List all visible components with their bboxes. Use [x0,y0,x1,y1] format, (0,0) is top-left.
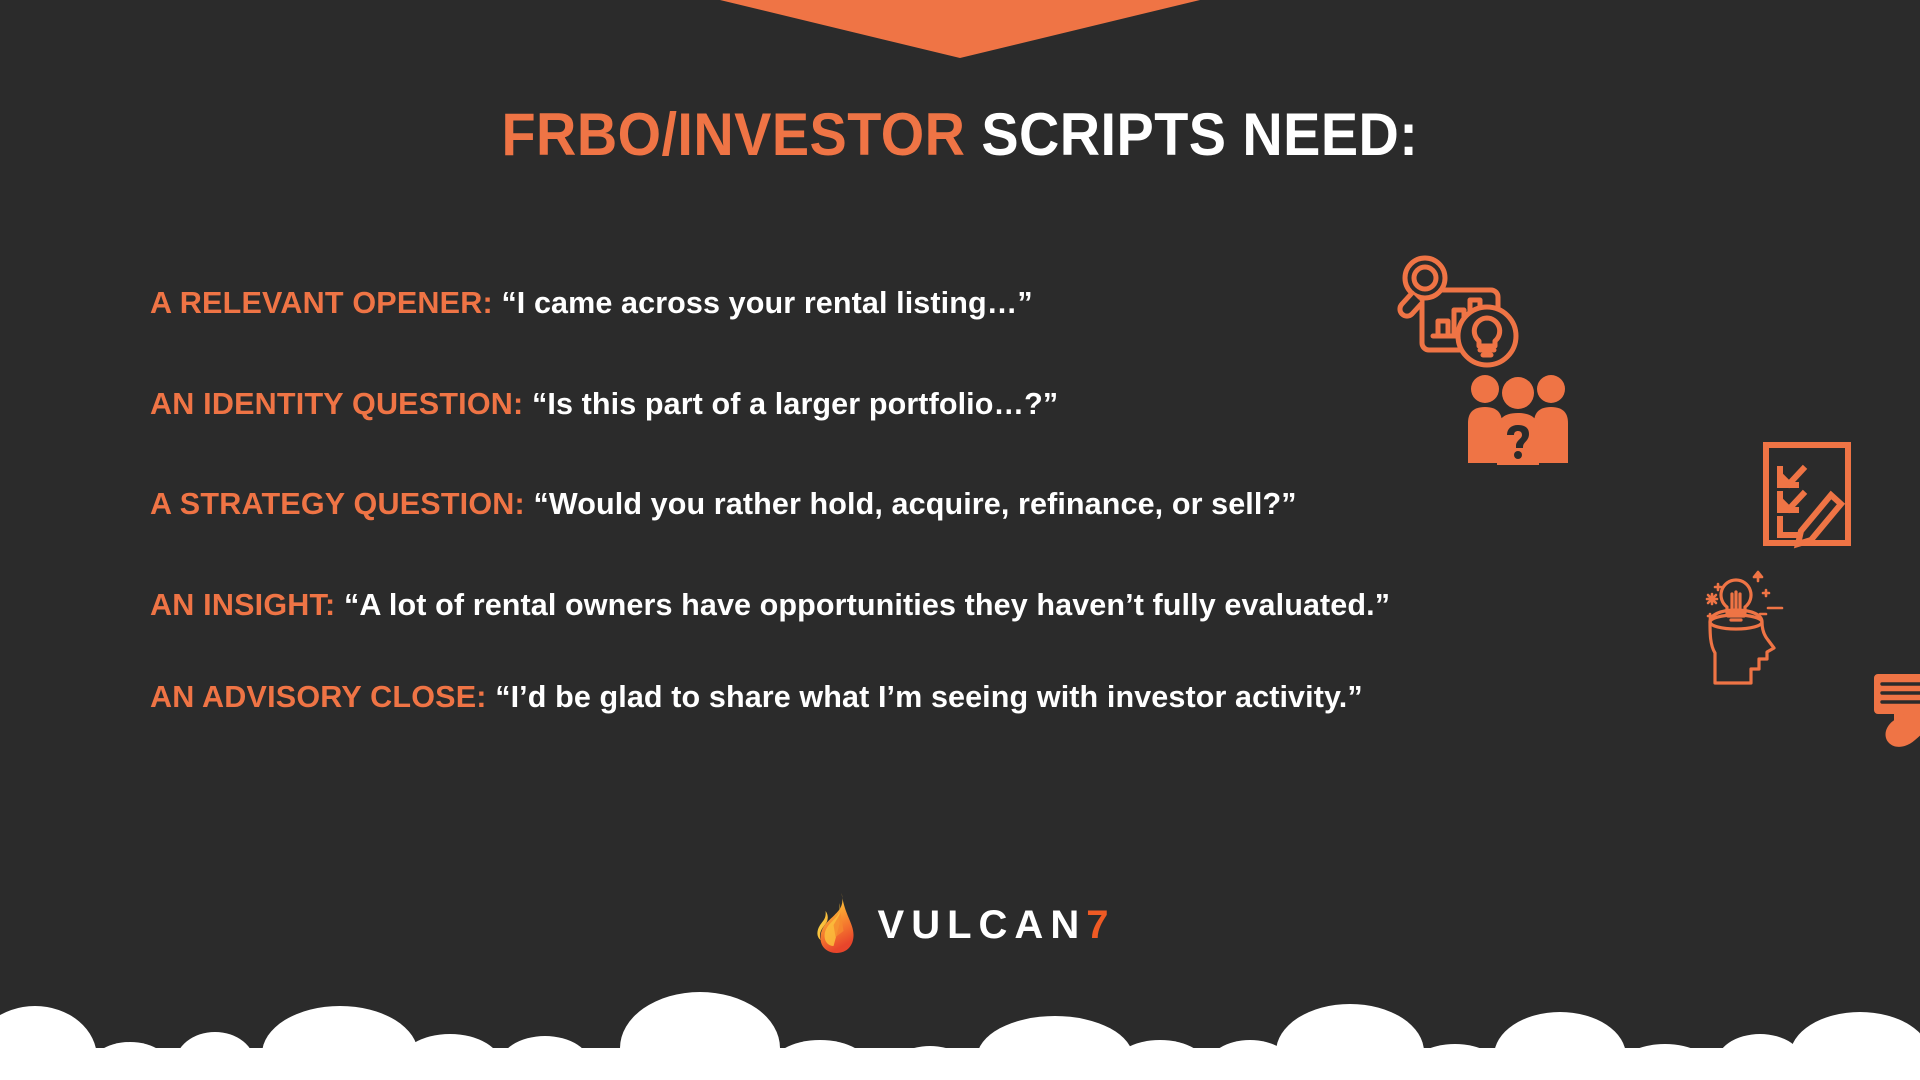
line-quote: “A lot of rental owners have opportuniti… [335,587,1390,622]
script-list: A RELEVANT OPENER: “I came across your r… [150,280,1850,721]
phone-message-icon [1868,668,1920,755]
logo-word: VULCAN [878,903,1087,947]
title-highlight: FRBO/INVESTOR [502,101,966,168]
line-quote: “Is this part of a larger portfolio…?” [523,386,1058,421]
down-chevron-icon [720,0,1200,58]
line-label: A RELEVANT OPENER: [150,285,493,320]
checklist-pencil-icon [1760,439,1854,554]
title-rest: SCRIPTS NEED: [965,101,1418,168]
line-label: AN INSIGHT: [150,587,335,622]
cloud-band-icon [0,970,1920,1080]
head-lightbulb-icon [1688,564,1800,691]
flame-icon [812,891,864,958]
logo-seven: 7 [1086,903,1108,947]
line-label: AN IDENTITY QUESTION: [150,386,523,421]
brand-logo: VULCAN7 [812,891,1109,958]
line-quote: “I’d be glad to share what I’m seeing wi… [487,679,1363,714]
list-item: AN IDENTITY QUESTION: “Is this part of a… [150,381,1850,428]
line-label: AN ADVISORY CLOSE: [150,679,487,714]
page-title: FRBO/INVESTOR SCRIPTS NEED: [0,105,1920,165]
line-quote: “Would you rather hold, acquire, refinan… [525,486,1297,521]
list-item: AN INSIGHT: “A lot of rental owners have… [150,582,1850,629]
list-item: A RELEVANT OPENER: “I came across your r… [150,280,1850,327]
list-item: AN ADVISORY CLOSE: “I’d be glad to share… [150,674,1850,721]
list-item: A STRATEGY QUESTION: “Would you rather h… [150,481,1850,528]
line-label: A STRATEGY QUESTION: [150,486,525,521]
line-quote: “I came across your rental listing…” [493,285,1033,320]
slide-root: FRBO/INVESTOR SCRIPTS NEED: A RELEVANT O… [0,0,1920,1080]
